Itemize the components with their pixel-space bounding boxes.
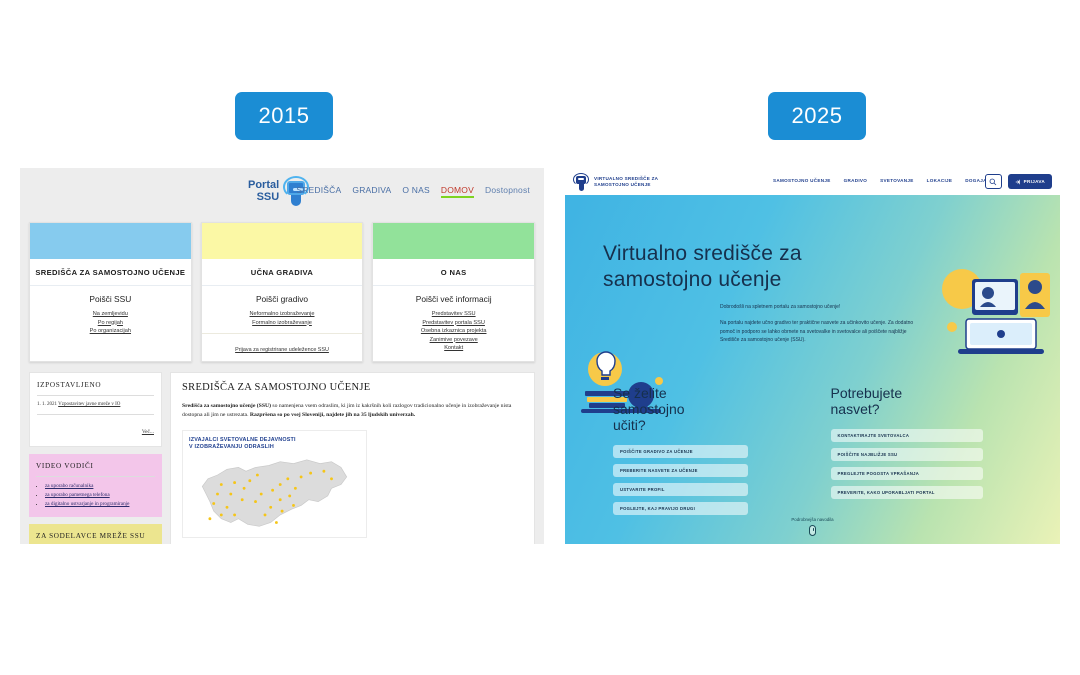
map-title-line2: V IZOBRAŽEVANJU ODRASLIH (189, 444, 360, 452)
panel-heading-line2: nasvet? (831, 401, 1061, 417)
main-paragraph: Središča za samostojno učenje (SSU) so n… (182, 402, 523, 421)
card-link[interactable]: Predstavitev SSU (377, 310, 530, 319)
sidebar-news-more: Več... (37, 420, 154, 438)
old-logo-text: Portal SSU (248, 179, 279, 203)
robot-icon (573, 172, 589, 192)
panel-heading-line2: samostojno (613, 401, 813, 417)
card-link[interactable]: Kontakt (377, 344, 530, 353)
card-link[interactable]: Po regijah (34, 319, 187, 328)
list-item: za uporabo računalnika (45, 482, 155, 491)
nav-item-svetovanje[interactable]: SVETOVANJE (880, 178, 913, 183)
card-link[interactable]: Neformalno izobraževanje (206, 310, 359, 319)
card-subtitle: Poišči gradivo (202, 286, 363, 308)
illustration-video-call (936, 265, 1054, 360)
card-color-band (373, 223, 534, 259)
old-site-topbar: Portal SSU SREDIŠČA GRADIVA O NAS DOMOV … (20, 168, 544, 216)
sidebar-partners-heading: ZA SODELAVCE MREŽE SSU (36, 532, 155, 540)
paragraph-bold-tail: Razpršena so po vsej Sloveniji, najdete … (250, 412, 415, 418)
hero-section: Virtualno središče za samostojno učenje … (565, 195, 1060, 544)
hero-copy: Dobrodošli na spletnem portalu za samost… (720, 303, 916, 345)
panel-heading-line3: učiti? (613, 417, 813, 433)
list-item: za digitalno ustvarjanje in programiranj… (45, 500, 155, 509)
nav-item-lokacije[interactable]: LOKACIJE (927, 178, 953, 183)
video-link[interactable]: za uporabo računalnika (45, 483, 93, 489)
panel-heading: Potrebujete nasvet? (831, 385, 1061, 417)
hero-title: Virtualno središče za samostojno učenje (603, 241, 802, 293)
card-ucna-gradiva[interactable]: UČNA GRADIVA Poišči gradivo Neformalno i… (201, 222, 364, 362)
new-logo-line1: VIRTUALNO SREDIŠČE ZA (594, 176, 658, 182)
search-icon (989, 178, 997, 186)
login-button-label: PRIJAVA (1024, 179, 1045, 184)
map-title: IZVAJALCI SVETOVALNE DEJAVNOSTI V IZOBRA… (189, 437, 360, 452)
old-logo-line1: Portal (248, 179, 279, 191)
nav-item-domov[interactable]: DOMOV (441, 185, 474, 198)
old-site-main-content: SREDIŠČA ZA SAMOSTOJNO UČENJE Središča z… (170, 372, 535, 544)
panel-heading-line1: Potrebujete (831, 385, 1061, 401)
card-link[interactable]: Osebna izkaznica projekta (377, 327, 530, 336)
card-links: Predstavitev SSU Predstavitev portala SS… (373, 308, 534, 359)
paragraph-bold-lead: Središča za samostojno učenje (SSU) (182, 403, 271, 409)
old-site-cards: SREDIŠČA ZA SAMOSTOJNO UČENJE Poišči SSU… (20, 216, 544, 372)
new-logo-text: VIRTUALNO SREDIŠČE ZA SAMOSTOJNO UČENJE (594, 176, 658, 188)
card-link[interactable]: Po organizacijah (34, 327, 187, 336)
slovenia-map (189, 455, 360, 533)
hero-panels: Se želite samostojno učiti? POIŠČITE GRA… (565, 385, 1060, 521)
divider (36, 476, 155, 477)
panel-button-najblizje-ssu[interactable]: POIŠČITE NAJBLIŽJE SSU (831, 448, 983, 461)
search-button[interactable] (985, 174, 1002, 189)
panel-button-vprasanja[interactable]: PREGLEJTE POGOSTA VPRAŠANJA (831, 467, 983, 480)
card-links: Na zemljevidu Po regijah Po organizacija… (30, 308, 191, 342)
nav-item-gradiva[interactable]: GRADIVA (352, 185, 391, 195)
nav-item-o-nas[interactable]: O NAS (402, 185, 429, 195)
sidebar-video-list: za uporabo računalnika za uporabo pametn… (36, 482, 155, 509)
more-link[interactable]: Več... (142, 429, 154, 435)
year-badge-2025: 2025 (768, 92, 866, 140)
news-link[interactable]: Vzpostavitev javne mreže v IO (58, 402, 120, 407)
old-site-nav: SREDIŠČA GRADIVA O NAS DOMOV Dostopnost (296, 185, 530, 198)
card-footer-link[interactable]: Prijava za registrirane udeležence SSU (235, 347, 329, 353)
hero-scroll-hint[interactable]: Podrobnejša navodila (565, 517, 1060, 536)
card-color-band (202, 223, 363, 259)
nav-item-samostojno-ucenje[interactable]: SAMOSTOJNO UČENJE (773, 178, 831, 183)
map-card: IZVAJALCI SVETOVALNE DEJAVNOSTI V IZOBRA… (182, 430, 367, 538)
card-title: UČNA GRADIVA (202, 259, 363, 286)
slovenia-map-icon (189, 455, 360, 533)
nav-item-dostopnost[interactable]: Dostopnost (485, 185, 530, 195)
year-badge-2015: 2015 (235, 92, 333, 140)
nav-item-gradivo[interactable]: GRADIVO (844, 178, 868, 183)
card-title: O NAS (373, 259, 534, 286)
card-link[interactable]: Na zemljevidu (34, 310, 187, 319)
screenshot-2025-portal: VIRTUALNO SREDIŠČE ZA SAMOSTOJNO UČENJE … (565, 168, 1060, 544)
card-title: SREDIŠČA ZA SAMOSTOJNO UČENJE (30, 259, 191, 286)
panel-button-gradivo[interactable]: POIŠČITE GRADIVO ZA UČENJE (613, 445, 748, 458)
card-color-band (30, 223, 191, 259)
card-subtitle: Poišči več informacij (373, 286, 534, 308)
hero-title-line1: Virtualno središče za (603, 241, 802, 267)
hero-title-line2: samostojno učenje (603, 267, 802, 293)
sidebar-partners-box: ZA SODELAVCE MREŽE SSU Prijava (29, 524, 162, 544)
hero-paragraph: Na portalu najdete učno gradivo ter prak… (720, 319, 916, 345)
old-site-sidebar: IZPOSTAVLJENO 1. 1. 2021 Vzpostavitev ja… (29, 372, 162, 544)
sidebar-news-heading: IZPOSTAVLJENO (37, 381, 154, 389)
card-subtitle: Poišči SSU (30, 286, 191, 308)
divider (37, 395, 154, 396)
panel-button-drugi[interactable]: POGLEJTE, KAJ PRAVIJO DRUGI (613, 502, 748, 515)
main-heading: SREDIŠČA ZA SAMOSTOJNO UČENJE (182, 382, 523, 393)
card-footer: Prijava za registrirane udeležence SSU (202, 333, 363, 361)
hero-lead-text: Dobrodošli na spletnem portalu za samost… (720, 303, 916, 311)
login-arrow-icon (1015, 179, 1021, 185)
news-date: 1. 1. 2021 (37, 402, 57, 407)
card-link[interactable]: Predstavitev portala SSU (377, 319, 530, 328)
panel-advice: Potrebujete nasvet? KONTAKTIRAJTE SVETOV… (813, 385, 1061, 521)
screenshot-2015-portal: Portal SSU SREDIŠČA GRADIVA O NAS DOMOV … (20, 168, 544, 544)
video-link[interactable]: za uporabo pametnega telefona (45, 492, 110, 498)
panel-button-kontakt[interactable]: KONTAKTIRAJTE SVETOVALCA (831, 429, 983, 442)
card-sredisca[interactable]: SREDIŠČA ZA SAMOSTOJNO UČENJE Poišči SSU… (29, 222, 192, 362)
nav-item-sredisca[interactable]: SREDIŠČA (296, 185, 341, 195)
new-site-nav: SAMOSTOJNO UČENJE GRADIVO SVETOVANJE LOK… (773, 178, 997, 183)
sidebar-video-heading: VIDEO VODIČI (36, 462, 155, 470)
new-site-topbar: VIRTUALNO SREDIŠČE ZA SAMOSTOJNO UČENJE … (565, 168, 1060, 195)
new-site-actions: PRIJAVA (985, 174, 1052, 189)
sidebar-news-box: IZPOSTAVLJENO 1. 1. 2021 Vzpostavitev ja… (29, 372, 162, 447)
card-link[interactable]: Formalno izobraževanje (206, 319, 359, 328)
card-link[interactable]: Zanimive povezave (377, 336, 530, 345)
old-logo-line2: SSU (248, 191, 279, 203)
video-link[interactable]: za digitalno ustvarjanje in programiranj… (45, 501, 129, 507)
old-site-body: IZPOSTAVLJENO 1. 1. 2021 Vzpostavitev ja… (20, 372, 544, 544)
mouse-scroll-icon (809, 525, 816, 536)
divider (37, 414, 154, 415)
panel-button-profil[interactable]: USTVARITE PROFIL (613, 483, 748, 496)
login-button[interactable]: PRIJAVA (1008, 174, 1052, 189)
sidebar-video-box: VIDEO VODIČI za uporabo računalnika za u… (29, 454, 162, 517)
panel-button-nasveti[interactable]: PREBERITE NASVETE ZA UČENJE (613, 464, 748, 477)
scroll-hint-label: Podrobnejša navodila (565, 517, 1060, 522)
sidebar-news-item: 1. 1. 2021 Vzpostavitev javne mreže v IO (37, 401, 154, 409)
list-item: za uporabo pametnega telefona (45, 491, 155, 500)
panel-heading: Se želite samostojno učiti? (613, 385, 813, 433)
new-site-logo[interactable]: VIRTUALNO SREDIŠČE ZA SAMOSTOJNO UČENJE (573, 172, 658, 192)
card-o-nas[interactable]: O NAS Poišči več informacij Predstavitev… (372, 222, 535, 362)
panel-self-learning: Se želite samostojno učiti? POIŠČITE GRA… (565, 385, 813, 521)
panel-button-navodila-portal[interactable]: PREVERITE, KAKO UPORABLJATI PORTAL (831, 486, 983, 499)
new-logo-line2: SAMOSTOJNO UČENJE (594, 182, 658, 188)
panel-heading-line1: Se želite (613, 385, 813, 401)
card-links: Neformalno izobraževanje Formalno izobra… (202, 308, 363, 333)
